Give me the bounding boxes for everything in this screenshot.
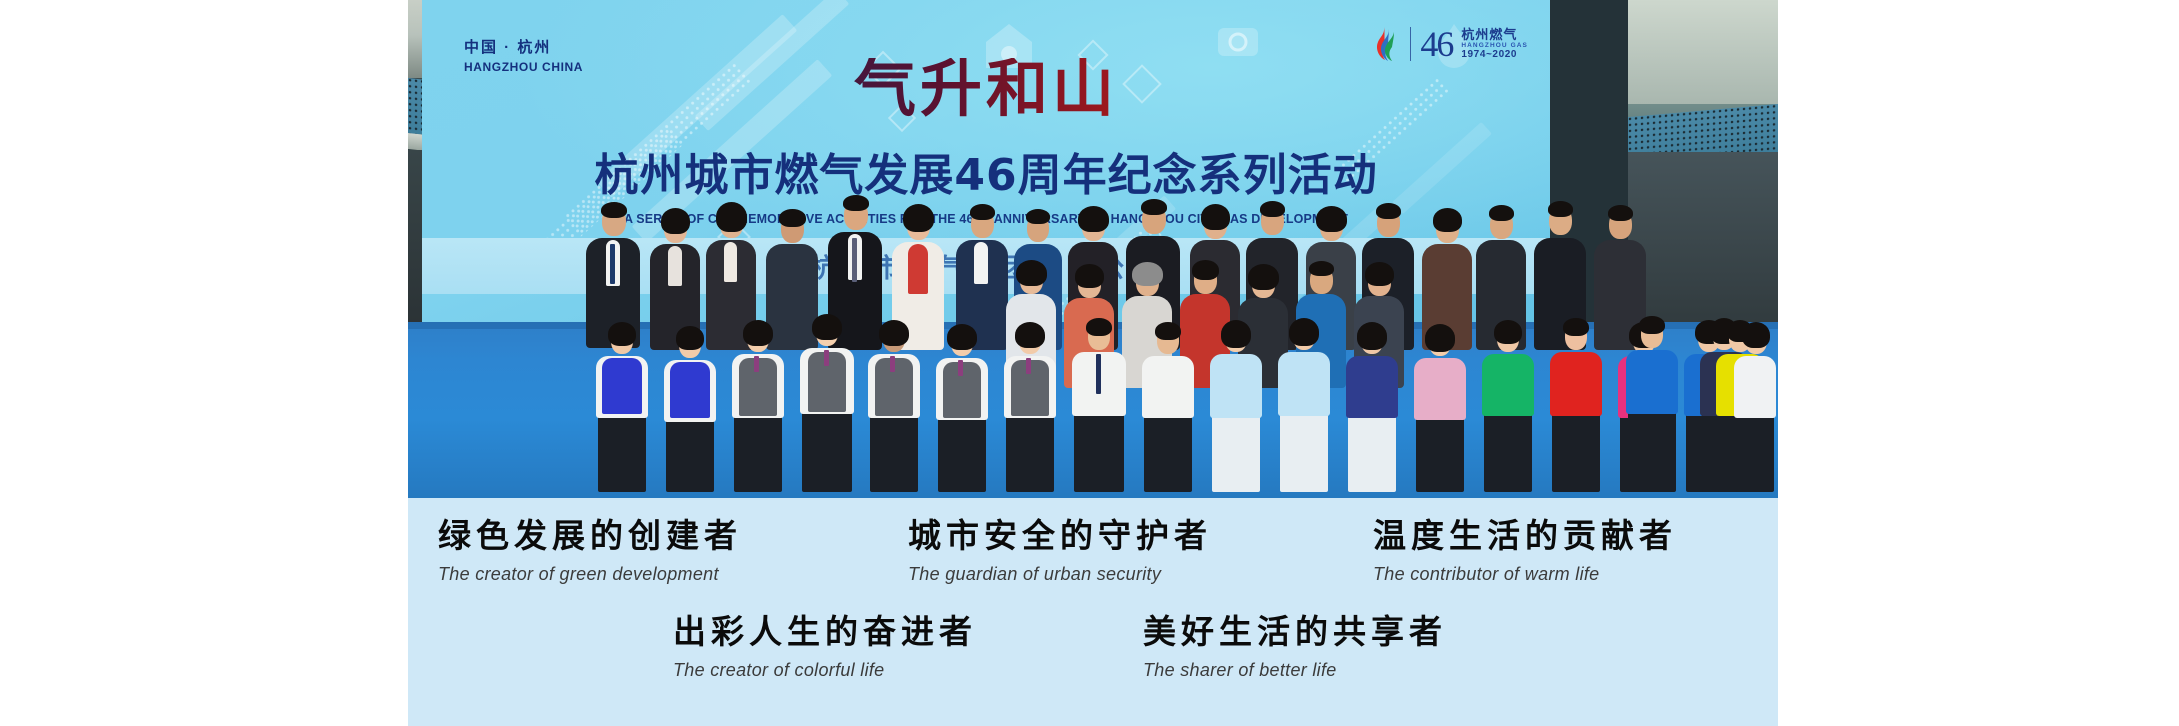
logo-name-cn: 杭州燃气 — [1461, 28, 1528, 42]
anniversary-number: 46 — [1420, 26, 1452, 62]
slogan-item-4: 出彩人生的奋进者 The creator of colorful life — [673, 612, 977, 681]
slogan-en: The creator of colorful life — [673, 660, 977, 681]
slogan-cn: 绿色发展的创建者 — [438, 516, 742, 556]
slogan-cn: 城市安全的守护者 — [908, 516, 1212, 556]
group-photo: 中国 · 杭州 HANGZHOU CHINA 46 杭州燃气 HANGZHOU … — [408, 0, 1778, 498]
slogan-en: The sharer of better life — [1143, 660, 1447, 681]
slogan-item-5: 美好生活的共享者 The sharer of better life — [1143, 612, 1447, 681]
slogan-item-2: 城市安全的守护者 The guardian of urban security — [908, 516, 1212, 585]
logo-name-en: HANGZHOU GAS — [1461, 42, 1528, 49]
location-cn-label: 中国 · 杭州 — [464, 36, 551, 57]
calligraphy-headline: 气升和山 — [422, 58, 1550, 120]
content-column: 中国 · 杭州 HANGZHOU CHINA 46 杭州燃气 HANGZHOU … — [408, 0, 1778, 726]
slogan-panel: 绿色发展的创建者 The creator of green developmen… — [408, 498, 1778, 726]
slogan-item-1: 绿色发展的创建者 The creator of green developmen… — [438, 516, 742, 585]
logo-divider — [1410, 27, 1411, 61]
slogan-cn: 温度生活的贡献者 — [1373, 516, 1677, 556]
hangzhou-gas-logo: 46 杭州燃气 HANGZHOU GAS 1974~2020 — [1371, 26, 1528, 62]
slogan-cn: 出彩人生的奋进者 — [673, 612, 977, 652]
logo-text-block: 杭州燃气 HANGZHOU GAS 1974~2020 — [1461, 28, 1528, 61]
flame-logo-icon — [1371, 26, 1401, 62]
slogan-item-3: 温度生活的贡献者 The contributor of warm life — [1373, 516, 1677, 585]
slogan-en: The creator of green development — [438, 564, 742, 585]
slogan-en: The guardian of urban security — [908, 564, 1212, 585]
slogan-cn: 美好生活的共享者 — [1143, 612, 1447, 652]
venue-glass-panel-right — [1628, 0, 1778, 104]
page-root: 中国 · 杭州 HANGZHOU CHINA 46 杭州燃气 HANGZHOU … — [0, 0, 2179, 726]
slogan-en: The contributor of warm life — [1373, 564, 1677, 585]
event-title-cn: 杭州城市燃气发展46周年纪念系列活动 — [422, 152, 1550, 200]
